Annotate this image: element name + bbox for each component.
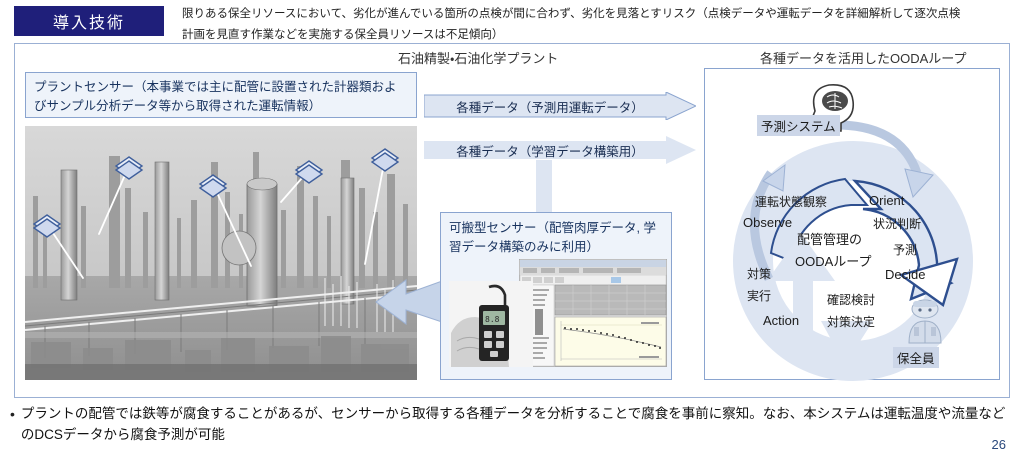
ooda-center-line1: 配管管理の (797, 229, 862, 248)
plant-photo (25, 126, 417, 380)
orient-label-en: Orient (869, 193, 904, 208)
decide-label-jp: 確認検討 (827, 291, 875, 308)
summary-bullet-text: プラントの配管では鉄等が腐食することがあるが、センサーから取得する各種データを分… (21, 404, 1010, 446)
arrow-prediction-data: 各種データ（予測用運転データ） (424, 92, 696, 120)
action-label-en: Action (763, 313, 799, 328)
arrow-prediction-data-label: 各種データ（予測用運転データ） (424, 92, 676, 120)
ooda-panel-title: 各種データを活用したOODAループ (760, 48, 967, 67)
handheld-thickness-meter-photo: 8.8 (449, 281, 533, 367)
header-note: 限りある保全リソースにおいて、劣化が進んでいる箇所の点検が間に合わず、劣化を見落… (182, 4, 1012, 47)
prediction-system-label: 予測システム (757, 115, 840, 136)
slide-title: 導入技術 (53, 9, 125, 33)
decide-label-en: Decide (885, 267, 925, 282)
svg-text:8.8: 8.8 (485, 315, 500, 324)
slide-title-banner: 導入技術 (14, 6, 164, 36)
header-note-line-1: 限りある保全リソースにおいて、劣化が進んでいる箇所の点検が間に合わず、劣化を見落… (182, 4, 1012, 25)
maintenance-worker-label: 保全員 (893, 347, 939, 368)
analysis-software-screenshot (519, 259, 667, 367)
action-label-jp2: 実行 (747, 287, 771, 304)
plant-section-label: 石油精製・石油化学プラント (398, 48, 558, 67)
action-label-jp: 対策 (747, 265, 771, 282)
portable-sensor-label: 可搬型センサー（配管肉厚データ, 学習データ構築のみに利用） (441, 213, 671, 259)
observe-label-jp: 運転状態観察 (755, 193, 827, 210)
arrow-training-data: 各種データ（学習データ構築用） (424, 136, 696, 164)
orient-label-jp: 状況判断 (873, 215, 921, 232)
summary-bullet-row: • プラントの配管では鉄等が腐食することがあるが、センサーから取得する各種データ… (10, 404, 1010, 446)
observe-label-en: Observe (743, 215, 792, 230)
plant-sensor-note: プラントセンサー（本事業では主に配管に設置された計器類およびサンプル分析データ等… (25, 72, 417, 118)
page-number: 26 (992, 437, 1006, 452)
bullet-marker: • (10, 404, 15, 446)
portable-sensor-box: 可搬型センサー（配管肉厚データ, 学習データ構築のみに利用） (440, 212, 672, 380)
ooda-panel: 予測システム 運転状態観察 Observe Orient 状況判断 予測 対策 … (704, 68, 1000, 380)
decide-label-jp2: 対策決定 (827, 313, 875, 330)
orient-label-jp2: 予測 (893, 241, 917, 258)
ooda-center-line2: OODAループ (795, 251, 872, 270)
